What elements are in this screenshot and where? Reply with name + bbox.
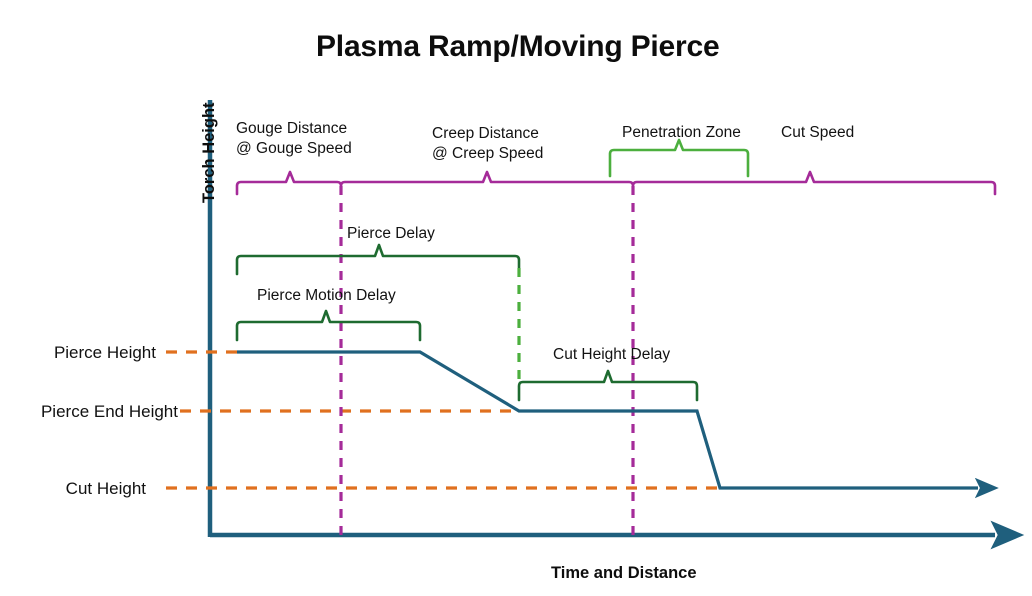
annotation-cut-speed: Cut Speed [781,123,854,143]
annotation-creep-distance-line2: @ Creep Speed [432,144,543,164]
annotation-cut-height-delay: Cut Height Delay [553,345,670,365]
level-reference-lines [166,352,718,488]
page-title: Plasma Ramp/Moving Pierce [316,27,720,67]
cut-height-delay-brace [519,371,697,400]
pierce-delay-brace-path [237,245,519,274]
level-label-pierce-end-height: Pierce End Height [0,401,178,423]
cut-height-delay-brace-path [519,371,697,400]
pierce-motion-delay-brace [237,311,420,340]
annotation-pierce-delay: Pierce Delay [347,224,435,244]
annotation-pierce-motion-delay: Pierce Motion Delay [257,286,396,306]
level-label-pierce-height: Pierce Height [0,342,156,364]
speed-bracket-path [237,172,995,194]
annotation-gouge-distance-line1: Gouge Distance [236,119,347,139]
plasma-ramp-diagram [0,0,1032,596]
penetration-zone-brace [610,140,748,176]
level-label-cut-height: Cut Height [0,478,146,500]
diagram-canvas: Plasma Ramp/Moving Pierce Torch Height T… [0,0,1032,596]
annotation-gouge-distance-line2: @ Gouge Speed [236,139,352,159]
annotation-creep-distance-line1: Creep Distance [432,124,539,144]
speed-bracket-group [237,172,995,194]
pierce-delay-brace [237,245,519,274]
penetration-zone-brace-path [610,140,748,176]
y-axis-title: Torch Height [199,102,221,203]
x-axis-title: Time and Distance [551,563,697,585]
annotation-penetration-zone: Penetration Zone [622,123,741,143]
pierce-motion-delay-brace-path [237,311,420,340]
